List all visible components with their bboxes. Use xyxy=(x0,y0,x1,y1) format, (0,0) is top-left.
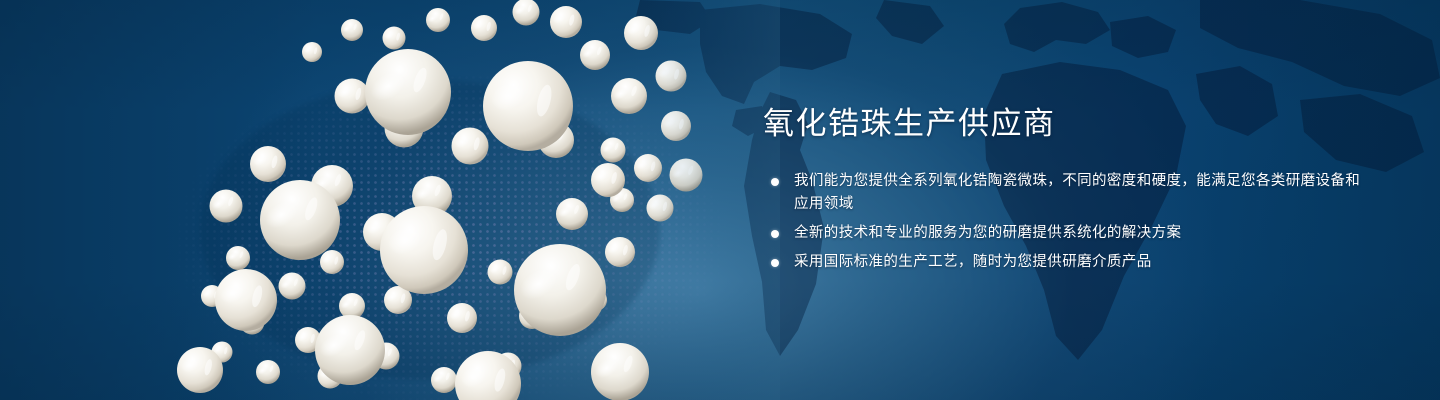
bullet-dot-icon xyxy=(771,230,779,238)
banner-feature-item: 我们能为您提供全系列氧化锆陶瓷微珠，不同的密度和硬度，能满足您各类研磨设备和应用… xyxy=(763,170,1363,216)
bullet-dot-icon xyxy=(771,259,779,267)
hero-banner: 氧化锆珠生产供应商 我们能为您提供全系列氧化锆陶瓷微珠，不同的密度和硬度，能满足… xyxy=(0,0,1440,400)
banner-headline: 氧化锆珠生产供应商 xyxy=(763,104,1363,144)
banner-feature-item: 采用国际标准的生产工艺，随时为您提供研磨介质产品 xyxy=(763,251,1363,274)
banner-copy: 氧化锆珠生产供应商 我们能为您提供全系列氧化锆陶瓷微珠，不同的密度和硬度，能满足… xyxy=(763,104,1363,274)
banner-feature-text: 采用国际标准的生产工艺，随时为您提供研磨介质产品 xyxy=(794,251,1363,274)
banner-feature-item: 全新的技术和专业的服务为您的研磨提供系统化的解决方案 xyxy=(763,222,1363,245)
banner-feature-text: 我们能为您提供全系列氧化锆陶瓷微珠，不同的密度和硬度，能满足您各类研磨设备和应用… xyxy=(794,170,1363,216)
banner-feature-text: 全新的技术和专业的服务为您的研磨提供系统化的解决方案 xyxy=(794,222,1363,245)
bullet-dot-icon xyxy=(771,178,779,186)
banner-feature-list: 我们能为您提供全系列氧化锆陶瓷微珠，不同的密度和硬度，能满足您各类研磨设备和应用… xyxy=(763,170,1363,274)
